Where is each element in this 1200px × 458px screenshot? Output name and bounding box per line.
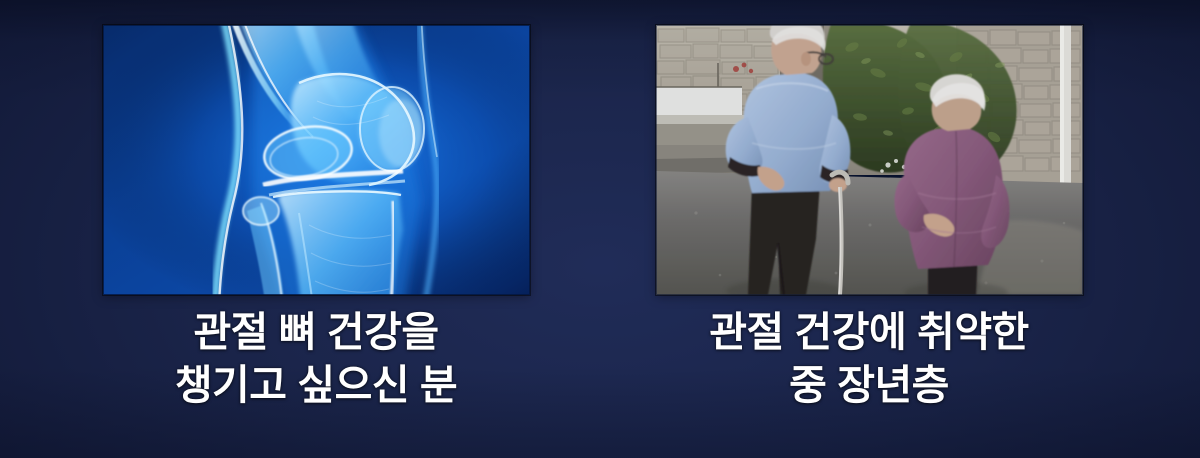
elderly-couple-walking-photo xyxy=(656,25,1083,295)
slide-root: 관절 뼈 건강을 챙기고 싶으신 분 xyxy=(0,0,1200,458)
knee-xray-image xyxy=(103,25,530,295)
panel-joint-bone-health: 관절 뼈 건강을 챙기고 싶으신 분 xyxy=(66,0,566,458)
caption-joint-bone-health: 관절 뼈 건강을 챙기고 싶으신 분 xyxy=(66,306,566,413)
caption-line-1: 관절 뼈 건강을 xyxy=(193,309,438,355)
caption-line-2: 중 장년층 xyxy=(789,362,949,408)
caption-vulnerable-middle-aged: 관절 건강에 취약한 중 장년층 xyxy=(619,306,1119,413)
caption-line-2: 챙기고 싶으신 분 xyxy=(175,362,457,408)
caption-line-1: 관절 건강에 취약한 xyxy=(709,309,1029,355)
panel-vulnerable-middle-aged: 관절 건강에 취약한 중 장년층 xyxy=(619,0,1119,458)
